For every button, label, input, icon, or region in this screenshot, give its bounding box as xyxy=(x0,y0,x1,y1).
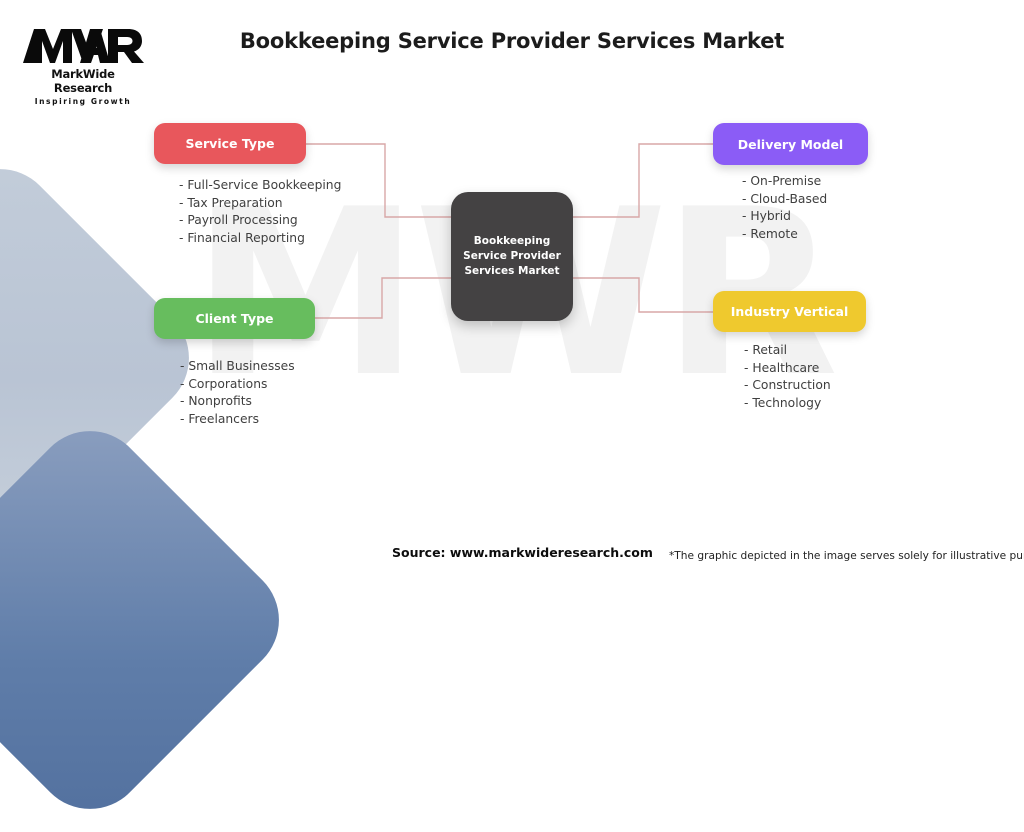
list-item: - Construction xyxy=(744,377,831,395)
list-item: - Financial Reporting xyxy=(179,230,341,248)
branch-label: Industry Vertical xyxy=(731,304,849,319)
list-item: - On-Premise xyxy=(742,173,827,191)
branch-list-service-type: - Full-Service Bookkeeping - Tax Prepara… xyxy=(179,177,341,247)
branch-node-industry-vertical[interactable]: Industry Vertical xyxy=(713,291,866,332)
list-item: - Small Businesses xyxy=(180,358,295,376)
source-label: Source: www.markwideresearch.com xyxy=(392,545,653,560)
list-item: - Corporations xyxy=(180,376,295,394)
branch-list-industry-vertical: - Retail - Healthcare - Construction - T… xyxy=(744,342,831,412)
branch-node-service-type[interactable]: Service Type xyxy=(154,123,306,164)
brand-tagline: Inspiring Growth xyxy=(22,97,144,106)
branch-list-delivery-model: - On-Premise - Cloud-Based - Hybrid - Re… xyxy=(742,173,827,243)
branch-list-client-type: - Small Businesses - Corporations - Nonp… xyxy=(180,358,295,428)
list-item: - Payroll Processing xyxy=(179,212,341,230)
list-item: - Hybrid xyxy=(742,208,827,226)
infographic-page: { "brand": { "logo_mark": "mwr-monogram"… xyxy=(0,0,1024,576)
center-node-label: Bookkeeping Service Provider Services Ma… xyxy=(451,234,573,280)
branch-node-delivery-model[interactable]: Delivery Model xyxy=(713,123,868,165)
list-item: - Technology xyxy=(744,395,831,413)
branch-node-client-type[interactable]: Client Type xyxy=(154,298,315,339)
branch-label: Client Type xyxy=(195,311,273,326)
list-item: - Nonprofits xyxy=(180,393,295,411)
center-node: Bookkeeping Service Provider Services Ma… xyxy=(451,192,573,321)
list-item: - Retail xyxy=(744,342,831,360)
branch-label: Service Type xyxy=(186,136,275,151)
list-item: - Full-Service Bookkeeping xyxy=(179,177,341,195)
list-item: - Freelancers xyxy=(180,411,295,429)
list-item: - Remote xyxy=(742,226,827,244)
brand-name: MarkWide Research xyxy=(22,67,144,95)
list-item: - Tax Preparation xyxy=(179,195,341,213)
branch-label: Delivery Model xyxy=(738,137,843,152)
list-item: - Cloud-Based xyxy=(742,191,827,209)
list-item: - Healthcare xyxy=(744,360,831,378)
disclaimer-label: *The graphic depicted in the image serve… xyxy=(669,550,1024,562)
page-title: Bookkeeping Service Provider Services Ma… xyxy=(0,29,1024,53)
